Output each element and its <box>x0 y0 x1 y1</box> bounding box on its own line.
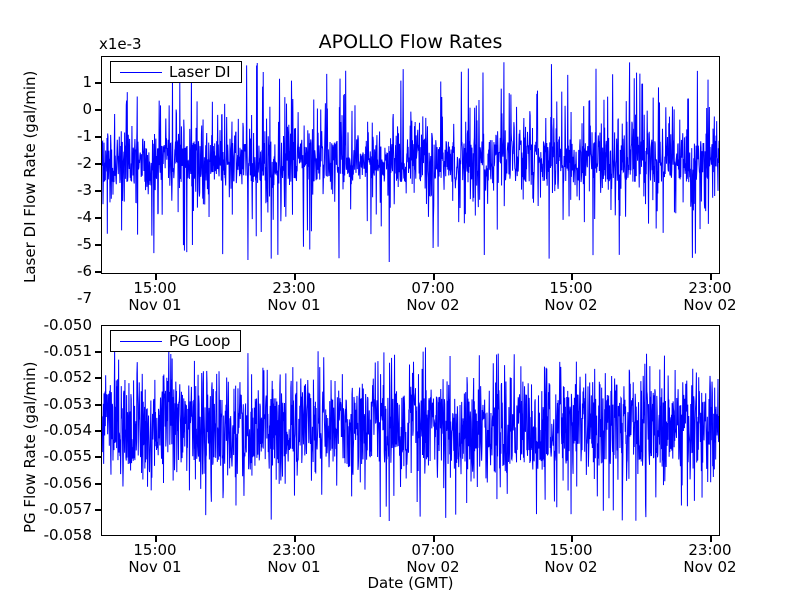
chart-title: APOLLO Flow Rates <box>101 31 720 53</box>
y-tick-label-top-8: -7 <box>40 291 92 306</box>
x-tick-time-top-0: 15:00 <box>133 279 176 297</box>
x-tick-time-bottom-4: 23:00 <box>688 541 731 559</box>
x-tick-date-top-1: Nov 01 <box>244 297 344 314</box>
legend-laser-di[interactable]: Laser DI <box>110 61 242 83</box>
y-tick-label-bottom-4: -0.054 <box>8 423 92 438</box>
y-tick-label-top-3: -2 <box>40 156 92 171</box>
y-tick-label-bottom-0: -0.050 <box>8 318 92 333</box>
y-tick-label-bottom-2: -0.052 <box>8 370 92 385</box>
y-tick-label-bottom-1: -0.051 <box>8 344 92 359</box>
x-tick-time-top-2: 07:00 <box>411 279 454 297</box>
series-line-pg-loop <box>102 326 719 535</box>
x-tick-time-bottom-0: 15:00 <box>133 541 176 559</box>
x-tick-date-top-0: Nov 01 <box>105 297 205 314</box>
y-axis-offset-text-top: x1e-3 <box>99 36 142 52</box>
y-tick-label-bottom-6: -0.056 <box>8 476 92 491</box>
legend-pg-loop[interactable]: PG Loop <box>110 330 241 352</box>
y-tick-label-top-7: -6 <box>40 264 92 279</box>
x-tick-time-top-3: 15:00 <box>549 279 592 297</box>
x-tick-label-top-2: 07:00 Nov 02 <box>383 280 483 314</box>
x-tick-label-bottom-4: 23:00 Nov 02 <box>660 542 760 576</box>
figure-canvas: APOLLO Flow Rates x1e-3 Laser DI Flow Ra… <box>0 0 800 600</box>
x-tick-label-bottom-1: 23:00 Nov 01 <box>244 542 344 576</box>
x-tick-label-bottom-0: 15:00 Nov 01 <box>105 542 205 576</box>
series-line-laser-di <box>102 57 719 273</box>
legend-label-pg-loop: PG Loop <box>169 334 234 349</box>
y-tick-label-top-5: -4 <box>40 210 92 225</box>
x-tick-date-bottom-1: Nov 01 <box>244 559 344 576</box>
x-tick-time-top-1: 23:00 <box>272 279 315 297</box>
x-tick-label-top-1: 23:00 Nov 01 <box>244 280 344 314</box>
y-tick-label-top-0: 1 <box>40 75 92 90</box>
x-tick-time-top-4: 23:00 <box>688 279 731 297</box>
plot-area-laser-di <box>101 56 720 274</box>
x-tick-date-top-3: Nov 02 <box>521 297 621 314</box>
y-axis-label-top: Laser DI Flow Rate (gal/min) <box>22 71 39 283</box>
x-tick-time-bottom-2: 07:00 <box>411 541 454 559</box>
x-tick-date-bottom-3: Nov 02 <box>521 559 621 576</box>
x-tick-time-bottom-1: 23:00 <box>272 541 315 559</box>
x-tick-label-bottom-3: 15:00 Nov 02 <box>521 542 621 576</box>
x-tick-date-bottom-0: Nov 01 <box>105 559 205 576</box>
y-tick-label-top-1: 0 <box>40 102 92 117</box>
x-tick-time-bottom-3: 15:00 <box>549 541 592 559</box>
legend-label-laser-di: Laser DI <box>169 65 235 80</box>
y-tick-label-bottom-5: -0.055 <box>8 449 92 464</box>
y-tick-label-bottom-3: -0.053 <box>8 397 92 412</box>
y-tick-label-top-2: -1 <box>40 129 92 144</box>
x-tick-date-bottom-4: Nov 02 <box>660 559 760 576</box>
plot-area-pg-loop <box>101 325 720 536</box>
legend-swatch-laser-di <box>120 72 162 73</box>
x-tick-date-top-2: Nov 02 <box>383 297 483 314</box>
x-tick-label-top-3: 15:00 Nov 02 <box>521 280 621 314</box>
x-axis-label: Date (GMT) <box>101 575 720 592</box>
x-tick-label-top-4: 23:00 Nov 02 <box>660 280 760 314</box>
y-tick-label-bottom-8: -0.058 <box>8 528 92 543</box>
y-tick-label-top-6: -5 <box>40 237 92 252</box>
y-tick-label-bottom-7: -0.057 <box>8 502 92 517</box>
legend-swatch-pg-loop <box>120 341 162 342</box>
x-tick-label-bottom-2: 07:00 Nov 02 <box>383 542 483 576</box>
x-tick-date-top-4: Nov 02 <box>660 297 760 314</box>
x-tick-label-top-0: 15:00 Nov 01 <box>105 280 205 314</box>
y-tick-label-top-4: -3 <box>40 183 92 198</box>
